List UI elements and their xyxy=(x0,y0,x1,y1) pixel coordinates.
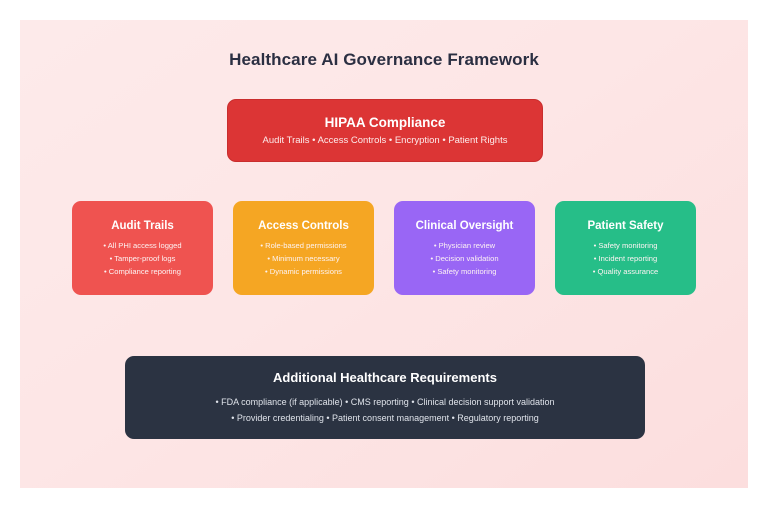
pillar-card-title: Audit Trails xyxy=(111,220,174,232)
additional-requirements-line: • FDA compliance (if applicable) • CMS r… xyxy=(215,394,554,410)
framework-canvas: Healthcare AI Governance Framework HIPAA… xyxy=(20,20,748,488)
additional-requirements-card: Additional Healthcare Requirements • FDA… xyxy=(125,356,645,439)
additional-requirements-line: • Provider credentialing • Patient conse… xyxy=(231,410,539,426)
pillar-card-audit-trails: Audit Trails • All PHI access logged • T… xyxy=(72,201,213,295)
pillar-card-clinical-oversight: Clinical Oversight • Physician review • … xyxy=(394,201,535,295)
hipaa-card-subtitle: Audit Trails • Access Controls • Encrypt… xyxy=(263,135,508,146)
pillar-card-item: • Incident reporting xyxy=(594,252,657,265)
pillar-card-item: • Decision validation xyxy=(430,252,498,265)
pillar-card-item: • Safety monitoring xyxy=(433,265,497,278)
additional-requirements-title: Additional Healthcare Requirements xyxy=(273,370,497,385)
pillar-card-item: • Dynamic permissions xyxy=(265,265,342,278)
pillar-card-patient-safety: Patient Safety • Safety monitoring • Inc… xyxy=(555,201,696,295)
hipaa-compliance-card: HIPAA Compliance Audit Trails • Access C… xyxy=(227,99,543,162)
pillar-card-item: • Role-based permissions xyxy=(260,239,346,252)
pillar-card-item: • All PHI access logged xyxy=(103,239,181,252)
pillar-card-title: Access Controls xyxy=(258,220,349,232)
pillar-card-item: • Compliance reporting xyxy=(104,265,181,278)
pillar-card-item: • Physician review xyxy=(434,239,495,252)
pillar-card-item: • Minimum necessary xyxy=(267,252,339,265)
hipaa-card-title: HIPAA Compliance xyxy=(325,115,446,130)
pillar-card-access-controls: Access Controls • Role-based permissions… xyxy=(233,201,374,295)
pillar-card-title: Patient Safety xyxy=(587,220,663,232)
pillar-card-title: Clinical Oversight xyxy=(416,220,514,232)
page-title: Healthcare AI Governance Framework xyxy=(20,50,748,70)
pillar-card-item: • Tamper-proof logs xyxy=(110,252,176,265)
pillar-card-row: Audit Trails • All PHI access logged • T… xyxy=(72,201,696,295)
pillar-card-item: • Quality assurance xyxy=(593,265,659,278)
pillar-card-item: • Safety monitoring xyxy=(594,239,658,252)
